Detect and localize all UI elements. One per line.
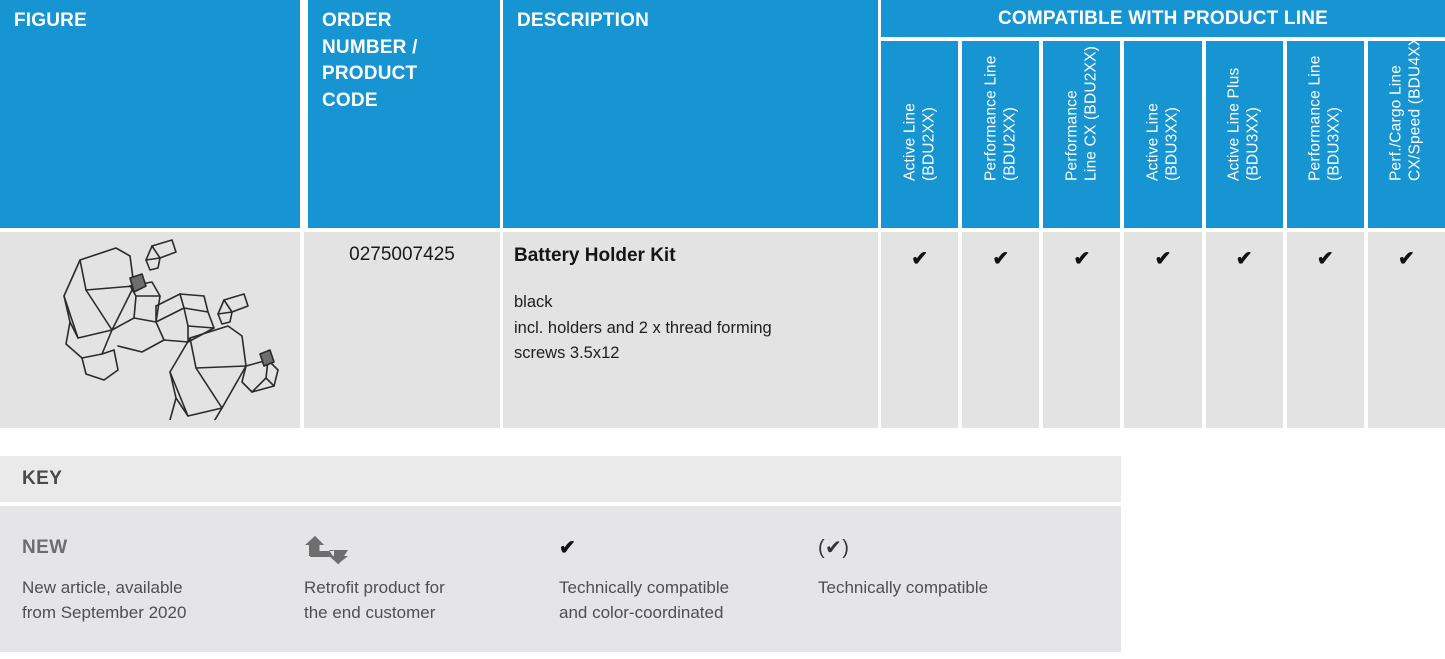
- battery-holder-kit-icon: [38, 234, 290, 420]
- column-header-label: Active Line (BDU2XX): [901, 41, 938, 181]
- column-header-active-line-plus-bdu3xx: Active Line Plus (BDU3XX): [1206, 41, 1283, 228]
- retrofit-icon: [304, 535, 348, 565]
- key-header: KEY: [0, 456, 1121, 502]
- compat-cell-perf-cargo-line-cx-speed-bdu4xx: ✔: [1368, 232, 1445, 428]
- column-header-label: Active Line Plus (BDU3XX): [1226, 41, 1263, 181]
- cell-order-number: 0275007425: [304, 232, 500, 428]
- key-item-check: ✔ Technically compatible and color-coord…: [530, 506, 813, 652]
- product-table: FIGURE ORDER NUMBER / PRODUCT CODE DESCR…: [0, 0, 1445, 428]
- compat-column-headers: Active Line (BDU2XX) Performance Line (B…: [881, 41, 1445, 228]
- column-header-performance-line-cx-bdu2xx: Performance Line CX (BDU2XX): [1043, 41, 1120, 228]
- key-legend: KEY NEW New article, available from Sept…: [0, 456, 1121, 652]
- retrofit-badge: [304, 535, 530, 565]
- cell-description: Battery Holder Kit black incl. holders a…: [503, 232, 878, 428]
- key-item-description: Technically compatible and color-coordin…: [559, 575, 813, 625]
- product-catalog-page: FIGURE ORDER NUMBER / PRODUCT CODE DESCR…: [0, 0, 1445, 659]
- new-badge: NEW: [22, 535, 282, 565]
- column-header-description: DESCRIPTION: [503, 0, 878, 228]
- compat-cell-performance-line-bdu2xx: ✔: [962, 232, 1039, 428]
- column-header-figure: FIGURE: [0, 0, 300, 228]
- compat-cell-active-line-bdu2xx: ✔: [881, 232, 958, 428]
- column-header-label: Perf./Cargo Line CX/Speed (BDU4XX): [1388, 41, 1425, 181]
- product-details: black incl. holders and 2 x thread formi…: [514, 290, 862, 367]
- column-header-active-line-bdu3xx: Active Line (BDU3XX): [1124, 41, 1201, 228]
- column-header-performance-line-bdu2xx: Performance Line (BDU2XX): [962, 41, 1039, 228]
- compat-cell-active-line-bdu3xx: ✔: [1124, 232, 1201, 428]
- column-header-figure-label: FIGURE: [0, 0, 300, 35]
- check-paren-badge: (✔): [818, 535, 1101, 565]
- key-item-retrofit: Retrofit product for the end customer: [282, 506, 530, 652]
- column-header-label: Performance Line (BDU3XX): [1307, 41, 1344, 181]
- key-heading: KEY: [0, 456, 1121, 502]
- column-header-order-number-label: ORDER NUMBER / PRODUCT CODE: [308, 0, 500, 114]
- compat-cell-performance-line-cx-bdu2xx: ✔: [1043, 232, 1120, 428]
- compat-cells: ✔ ✔ ✔ ✔ ✔ ✔ ✔: [881, 232, 1445, 428]
- check-badge: ✔: [559, 535, 813, 565]
- compat-cell-performance-line-bdu3xx: ✔: [1287, 232, 1364, 428]
- column-group-header-compatible: COMPATIBLE WITH PRODUCT LINE: [881, 0, 1445, 37]
- product-title: Battery Holder Kit: [514, 243, 862, 268]
- column-header-order-number: ORDER NUMBER / PRODUCT CODE: [308, 0, 500, 228]
- column-header-label: Performance Line CX (BDU2XX): [1063, 41, 1100, 181]
- key-items: NEW New article, available from Septembe…: [0, 506, 1121, 652]
- column-header-label: Active Line (BDU3XX): [1144, 41, 1181, 181]
- key-item-description: New article, available from September 20…: [22, 575, 282, 625]
- key-item-new: NEW New article, available from Septembe…: [0, 506, 282, 652]
- compat-cell-active-line-plus-bdu3xx: ✔: [1206, 232, 1283, 428]
- column-header-perf-cargo-line-cx-speed-bdu4xx: Perf./Cargo Line CX/Speed (BDU4XX): [1368, 41, 1445, 228]
- column-header-label: Performance Line (BDU2XX): [982, 41, 1019, 181]
- column-header-active-line-bdu2xx: Active Line (BDU2XX): [881, 41, 958, 228]
- key-item-description: Technically compatible: [818, 575, 1101, 600]
- column-header-description-label: DESCRIPTION: [503, 0, 878, 35]
- key-item-check-parenthesized: (✔) Technically compatible: [813, 506, 1101, 652]
- key-item-description: Retrofit product for the end customer: [304, 575, 530, 625]
- cell-figure: [0, 232, 300, 428]
- table-header: FIGURE ORDER NUMBER / PRODUCT CODE DESCR…: [0, 0, 1445, 228]
- column-group-header-compatible-label: COMPATIBLE WITH PRODUCT LINE: [881, 0, 1445, 37]
- table-row: 0275007425 Battery Holder Kit black incl…: [0, 232, 1445, 428]
- column-header-performance-line-bdu3xx: Performance Line (BDU3XX): [1287, 41, 1364, 228]
